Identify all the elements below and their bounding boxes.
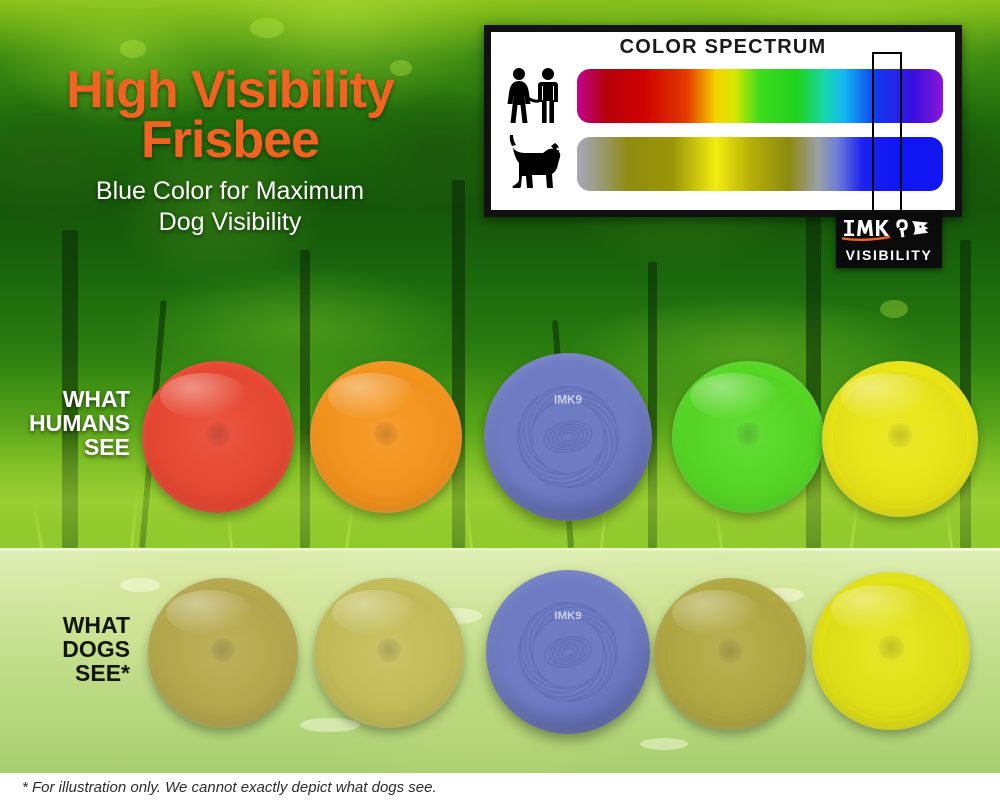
- dog-silhouette-icon: [503, 133, 565, 193]
- disc-yellow[interactable]: [822, 361, 978, 517]
- disc-gloss: [166, 590, 253, 635]
- human-label-line-1: WHAT: [0, 388, 130, 412]
- foliage-speck: [880, 300, 908, 318]
- grass-blade: [464, 496, 473, 548]
- disc-gloss: [672, 590, 760, 636]
- ground-speck: [120, 578, 160, 592]
- disc-red-dog-vision[interactable]: [148, 578, 298, 728]
- footnote-text: * For illustration only. We cannot exact…: [22, 779, 437, 796]
- page-subtitle: Blue Color for Maximum Dog Visibility: [0, 176, 460, 237]
- grass-blade: [945, 498, 953, 548]
- grass-blade: [32, 494, 43, 548]
- band-divider: [0, 548, 1000, 551]
- foliage-speck: [250, 18, 284, 38]
- disc-orange-dog-vision[interactable]: [314, 578, 464, 728]
- dog-label-line-1: WHAT: [0, 614, 130, 638]
- imk9-wordmark-icon: [840, 214, 938, 244]
- svg-text:IMK9: IMK9: [554, 393, 583, 406]
- disc-gloss: [332, 590, 419, 635]
- dog-label-line-2: DOGS: [0, 638, 130, 662]
- logo-tagline: VISIBILITY: [836, 247, 942, 263]
- disc-blue-dog-vision[interactable]: IMK9: [486, 570, 650, 734]
- human-label-line-3: SEE: [0, 436, 130, 460]
- disc-yellow-dog-vision[interactable]: [812, 572, 970, 730]
- human-label-line-2: HUMANS: [0, 412, 130, 436]
- disc-green[interactable]: [672, 361, 824, 513]
- disc-orange[interactable]: [310, 361, 462, 513]
- imk9-logo-badge: VISIBILITY: [836, 212, 942, 268]
- disc-gloss: [831, 585, 923, 632]
- ground-speck: [640, 738, 688, 750]
- headline-line-2: Frisbee: [0, 116, 460, 166]
- dog-label-line-3: SEE*: [0, 662, 130, 686]
- disc-red[interactable]: [142, 361, 294, 513]
- disc-gloss: [841, 373, 931, 420]
- man-woman-pictogram-icon: [503, 65, 565, 125]
- dog-row-label: WHAT DOGS SEE*: [0, 614, 130, 686]
- svg-text:IMK9: IMK9: [554, 610, 581, 622]
- poster-canvas: High Visibility Frisbee Blue Color for M…: [0, 0, 1000, 800]
- grass-blade: [130, 482, 140, 548]
- disc-blue[interactable]: IMK9: [484, 353, 652, 521]
- disc-gloss: [690, 373, 778, 419]
- ground-speck: [300, 718, 360, 732]
- human-row-label: WHAT HUMANS SEE: [0, 388, 130, 460]
- blue-region-highlight-box: [872, 52, 902, 224]
- grass-blade: [714, 502, 723, 548]
- disc-gloss: [160, 373, 248, 419]
- page-title: High Visibility Frisbee: [0, 66, 460, 166]
- subheadline-line-1: Blue Color for Maximum: [96, 177, 364, 205]
- foliage-speck: [120, 40, 146, 58]
- disc-gloss: [328, 373, 416, 419]
- disc-green-dog-vision[interactable]: [654, 578, 806, 730]
- subheadline-line-2: Dog Visibility: [159, 208, 302, 236]
